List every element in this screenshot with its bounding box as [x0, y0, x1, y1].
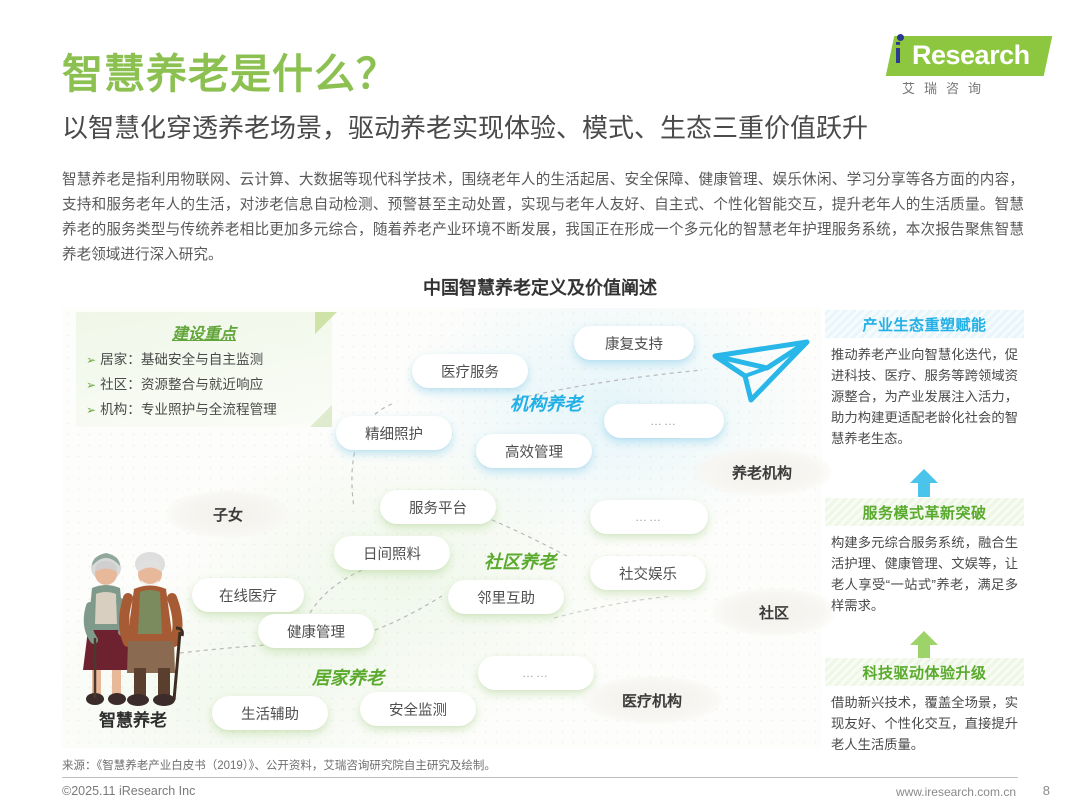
pill-medical-service[interactable]: 医疗服务 [412, 354, 528, 388]
panel-text: 推动养老产业向智慧化迭代，促进科技、医疗、服务等跨领域资源整合，为产业发展注入活… [825, 338, 1024, 449]
cloud-institution: 养老机构 [692, 448, 832, 496]
panel-title: 服务模式革新突破 [825, 498, 1024, 526]
iresearch-logo: i Research 艾瑞咨询 [872, 36, 1048, 98]
focus-box-title: 建设重点 [76, 320, 332, 344]
pill-health-management[interactable]: 健康管理 [258, 614, 374, 648]
footer-divider [62, 777, 1018, 778]
pill-social-entertainment[interactable]: 社交娱乐 [590, 556, 706, 590]
page-number: 8 [1043, 783, 1050, 798]
pill-label: 服务平台 [409, 497, 467, 518]
pill-label: 日间照料 [363, 543, 421, 564]
pill-label: 高效管理 [505, 441, 563, 462]
focus-corner-accent-bottom [310, 405, 332, 427]
cluster-label-community: 社区养老 [484, 548, 556, 574]
pill-institution-more[interactable]: …… [604, 404, 724, 438]
cloud-children: 子女 [166, 490, 290, 538]
elderly-label: 智慧养老 [70, 706, 196, 731]
pill-neighbor-help[interactable]: 邻里互助 [448, 580, 564, 614]
panel-text: 借助新兴技术，覆盖全场景，实现友好、个性化交互，直接提升老人生活质量。 [825, 686, 1024, 755]
up-arrow-icon-green [909, 630, 939, 660]
pill-community-more[interactable]: …… [590, 500, 708, 534]
panel-industry-ecosystem: 产业生态重塑赋能 推动养老产业向智慧化迭代，促进科技、医疗、服务等跨领域资源整合… [825, 310, 1024, 449]
body-paragraph: 智慧养老是指利用物联网、云计算、大数据等现代科学技术，围绕老年人的生活起居、安全… [62, 168, 1024, 268]
logo-wordmark: Research [912, 40, 1030, 71]
pill-label: 在线医疗 [219, 585, 277, 606]
pill-fine-care[interactable]: 精细照护 [336, 416, 452, 450]
pill-label: 健康管理 [287, 621, 345, 642]
pill-label: 安全监测 [389, 699, 447, 720]
panel-title: 产业生态重塑赋能 [825, 310, 1024, 338]
cloud-community: 社区 [712, 588, 836, 636]
focus-corner-accent [315, 312, 337, 334]
bullet-arrow-icon: ➢ [86, 378, 96, 392]
page-title: 智慧养老是什么？ [62, 40, 398, 100]
pill-label: 邻里互助 [477, 587, 535, 608]
pill-label: 生活辅助 [241, 703, 299, 724]
focus-box: 建设重点 ➢居家：基础安全与自主监测 ➢社区：资源整合与就近响应 ➢机构：专业照… [76, 312, 332, 427]
pill-label: 社交娱乐 [619, 563, 677, 584]
pill-service-platform[interactable]: 服务平台 [380, 490, 496, 524]
pill-rehab-support[interactable]: 康复支持 [574, 326, 694, 360]
pill-label: 医疗服务 [441, 361, 499, 382]
elderly-couple-illustration [68, 546, 198, 711]
pill-home-more[interactable]: …… [478, 656, 594, 690]
bullet-arrow-icon: ➢ [86, 353, 96, 367]
website-url[interactable]: www.iresearch.com.cn [896, 785, 1016, 799]
bullet-arrow-icon: ➢ [86, 403, 96, 417]
source-note: 来源：《智慧养老产业白皮书（2019）》、公开资料，艾瑞咨询研究院自主研究及绘制… [62, 757, 496, 773]
copyright-text: ©2025.11 iResearch Inc [62, 784, 195, 798]
page-subtitle: 以智慧化穿透养老场景，驱动养老实现体验、模式、生态三重价值跃升 [62, 108, 868, 145]
panel-tech-driven: 科技驱动体验升级 借助新兴技术，覆盖全场景，实现友好、个性化交互，直接提升老人生… [825, 658, 1024, 755]
up-arrow-icon-cyan [909, 468, 939, 498]
logo-chinese-name: 艾瑞咨询 [902, 78, 990, 97]
pill-label: 康复支持 [605, 333, 663, 354]
pill-label: …… [635, 510, 663, 524]
pill-day-care[interactable]: 日间照料 [334, 536, 450, 570]
panel-text: 构建多元综合服务系统，融合生活护理、健康管理、文娱等，让老人享受“一站式”养老，… [825, 526, 1024, 616]
cluster-label-home: 居家养老 [312, 664, 384, 690]
panel-title: 科技驱动体验升级 [825, 658, 1024, 686]
diagram-title: 中国智慧养老定义及价值阐述 [0, 274, 1080, 300]
cluster-label-institution: 机构养老 [510, 390, 582, 416]
pill-label: …… [650, 414, 678, 428]
slide-page: 智慧养老是什么？ 以智慧化穿透养老场景，驱动养老实现体验、模式、生态三重价值跃升… [0, 0, 1080, 810]
panel-service-model: 服务模式革新突破 构建多元综合服务系统，融合生活护理、健康管理、文娱等，让老人享… [825, 498, 1024, 616]
focus-item-community: ➢社区：资源整合与就近响应 [86, 373, 263, 393]
pill-safety-monitoring[interactable]: 安全监测 [360, 692, 476, 726]
paper-plane-icon [707, 330, 815, 408]
focus-item-home: ➢居家：基础安全与自主监测 [86, 348, 263, 368]
focus-item-institution: ➢机构：专业照护与全流程管理 [86, 398, 277, 418]
pill-label: …… [522, 666, 550, 680]
logo-initial: i [894, 38, 902, 71]
pill-label: 精细照护 [365, 423, 423, 444]
pill-life-assist[interactable]: 生活辅助 [212, 696, 328, 730]
cloud-medical: 医疗机构 [582, 676, 722, 724]
pill-online-medical[interactable]: 在线医疗 [192, 578, 304, 612]
pill-efficient-management[interactable]: 高效管理 [476, 434, 592, 468]
diagram-canvas: 建设重点 ➢居家：基础安全与自主监测 ➢社区：资源整合与就近响应 ➢机构：专业照… [62, 308, 1024, 748]
